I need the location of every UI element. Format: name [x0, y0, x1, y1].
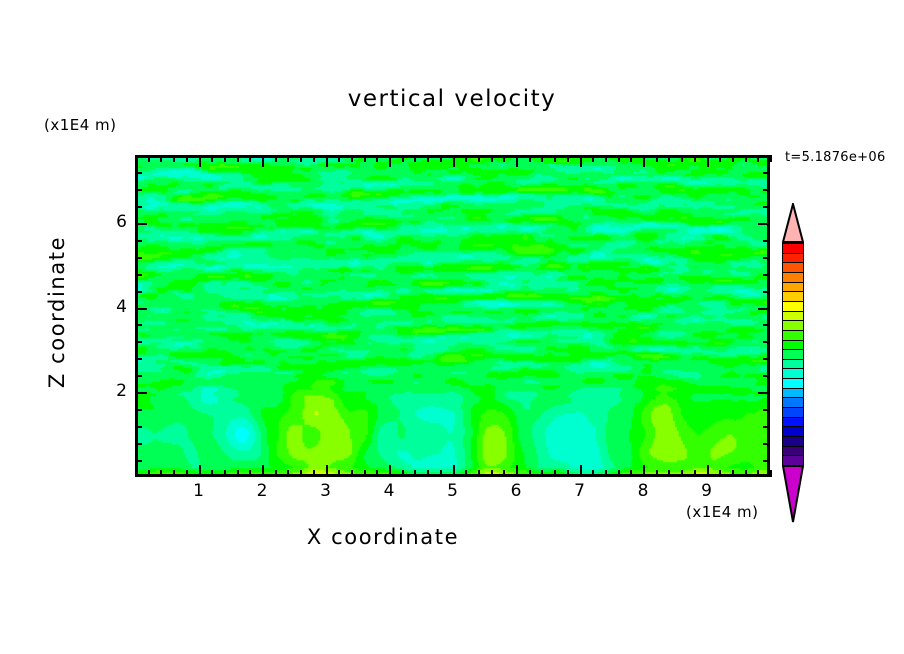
x-axis-minor-tick: [605, 470, 607, 477]
x-axis-minor-tick: [567, 155, 569, 162]
x-axis-minor-tick: [478, 155, 480, 162]
x-axis-minor-tick: [541, 470, 543, 477]
x-axis-major-tick: [326, 465, 328, 477]
x-axis-minor-tick: [186, 470, 188, 477]
x-tick-label: 8: [628, 481, 658, 501]
x-axis-minor-tick: [554, 470, 556, 477]
y-axis-minor-tick: [135, 291, 142, 293]
contour-plot-area: [135, 155, 770, 477]
x-axis-minor-tick: [427, 470, 429, 477]
x-tick-label: 4: [374, 481, 404, 501]
x-axis-major-tick: [389, 465, 391, 477]
x-axis-minor-tick: [287, 155, 289, 162]
y-axis-minor-tick: [763, 443, 770, 445]
x-axis-minor-tick: [414, 470, 416, 477]
x-axis-minor-tick: [414, 155, 416, 162]
x-axis-minor-tick: [300, 470, 302, 477]
y-tick-label: 2: [105, 381, 127, 401]
x-axis-minor-tick: [402, 470, 404, 477]
x-axis-minor-tick: [618, 470, 620, 477]
y-axis-minor-tick: [135, 257, 142, 259]
x-axis-minor-tick: [757, 470, 759, 477]
x-axis-major-tick: [453, 155, 455, 167]
y-axis-minor-tick: [135, 460, 142, 462]
x-axis-minor-tick: [237, 155, 239, 162]
x-axis-minor-tick: [567, 470, 569, 477]
x-axis-minor-tick: [224, 155, 226, 162]
y-axis-minor-tick: [763, 206, 770, 208]
x-axis-minor-tick: [503, 155, 505, 162]
x-axis-minor-tick: [656, 470, 658, 477]
y-axis-major-tick: [758, 308, 770, 310]
x-axis-minor-tick: [148, 155, 150, 162]
x-axis-minor-tick: [275, 470, 277, 477]
x-axis-minor-tick: [719, 155, 721, 162]
x-axis-minor-tick: [465, 155, 467, 162]
x-axis-minor-tick: [160, 155, 162, 162]
x-axis-minor-tick: [338, 155, 340, 162]
x-axis-minor-tick: [173, 155, 175, 162]
x-axis-minor-tick: [376, 470, 378, 477]
x-axis-minor-tick: [376, 155, 378, 162]
x-axis-major-tick: [643, 465, 645, 477]
x-axis-minor-tick: [148, 470, 150, 477]
x-axis-minor-tick: [351, 155, 353, 162]
timestamp-label: t=5.1876e+06: [785, 150, 886, 165]
y-axis-title: Z coordinate: [45, 232, 69, 392]
x-axis-major-tick: [516, 465, 518, 477]
x-axis-minor-tick: [402, 155, 404, 162]
y-axis-minor-tick: [763, 257, 770, 259]
x-axis-minor-tick: [313, 155, 315, 162]
x-axis-major-tick: [580, 155, 582, 167]
x-tick-label: 2: [247, 481, 277, 501]
y-axis-minor-tick: [763, 341, 770, 343]
chart-title: vertical velocity: [0, 86, 904, 112]
y-tick-label: 4: [105, 297, 127, 317]
x-axis-minor-tick: [630, 470, 632, 477]
x-axis-minor-tick: [364, 155, 366, 162]
x-axis-major-tick: [389, 155, 391, 167]
x-axis-minor-tick: [211, 155, 213, 162]
x-axis-major-tick: [516, 155, 518, 167]
y-axis-minor-tick: [135, 375, 142, 377]
x-axis-minor-tick: [757, 155, 759, 162]
x-axis-minor-tick: [681, 470, 683, 477]
y-axis-major-tick: [135, 223, 147, 225]
x-axis-minor-tick: [338, 470, 340, 477]
y-axis-minor-tick: [763, 324, 770, 326]
x-axis-major-tick: [199, 465, 201, 477]
x-tick-label: 1: [184, 481, 214, 501]
x-axis-minor-tick: [186, 155, 188, 162]
y-axis-minor-tick: [763, 172, 770, 174]
x-axis-minor-tick: [491, 155, 493, 162]
colorbar-cap-outline: [782, 465, 804, 523]
x-axis-minor-tick: [732, 470, 734, 477]
x-tick-label: 3: [311, 481, 341, 501]
x-axis-minor-tick: [440, 155, 442, 162]
x-axis-minor-tick: [287, 470, 289, 477]
x-axis-unit-label: (x1E4 m): [686, 503, 759, 521]
y-axis-minor-tick: [135, 426, 142, 428]
y-axis-minor-tick: [763, 426, 770, 428]
y-axis-major-tick: [758, 392, 770, 394]
x-axis-minor-tick: [694, 470, 696, 477]
x-axis-minor-tick: [160, 470, 162, 477]
x-axis-minor-tick: [541, 155, 543, 162]
colorbar: 181260−6−12−18: [778, 203, 808, 523]
x-axis-minor-tick: [630, 155, 632, 162]
y-axis-minor-tick: [763, 409, 770, 411]
x-axis-minor-tick: [618, 155, 620, 162]
y-axis-unit-label: (x1E4 m): [44, 116, 117, 134]
x-axis-major-tick: [199, 155, 201, 167]
x-axis-minor-tick: [770, 155, 772, 162]
y-axis-major-tick: [758, 223, 770, 225]
x-axis-major-tick: [262, 465, 264, 477]
x-axis-minor-tick: [656, 155, 658, 162]
x-axis-major-tick: [453, 465, 455, 477]
x-axis-minor-tick: [440, 470, 442, 477]
x-axis-major-tick: [262, 155, 264, 167]
x-axis-minor-tick: [237, 470, 239, 477]
x-axis-minor-tick: [605, 155, 607, 162]
x-axis-major-tick: [580, 465, 582, 477]
x-axis-minor-tick: [745, 155, 747, 162]
y-axis-minor-tick: [135, 443, 142, 445]
x-tick-label: 6: [501, 481, 531, 501]
y-axis-minor-tick: [135, 206, 142, 208]
x-axis-minor-tick: [592, 470, 594, 477]
x-axis-minor-tick: [249, 470, 251, 477]
y-axis-major-tick: [135, 308, 147, 310]
y-axis-minor-tick: [135, 189, 142, 191]
x-axis-title: X coordinate: [0, 525, 766, 549]
x-axis-major-tick: [643, 155, 645, 167]
x-axis-minor-tick: [478, 470, 480, 477]
x-axis-minor-tick: [668, 155, 670, 162]
y-axis-minor-tick: [135, 274, 142, 276]
x-axis-minor-tick: [732, 155, 734, 162]
y-axis-minor-tick: [763, 274, 770, 276]
x-axis-minor-tick: [300, 155, 302, 162]
x-axis-minor-tick: [770, 470, 772, 477]
y-axis-minor-tick: [135, 358, 142, 360]
x-axis-minor-tick: [224, 470, 226, 477]
x-axis-minor-tick: [745, 470, 747, 477]
y-axis-minor-tick: [763, 291, 770, 293]
x-tick-label: 5: [438, 481, 468, 501]
figure-canvas: vertical velocity (x1E4 m) t=5.1876e+06 …: [0, 0, 904, 654]
y-axis-minor-tick: [135, 324, 142, 326]
x-axis-minor-tick: [427, 155, 429, 162]
y-axis-minor-tick: [763, 358, 770, 360]
x-axis-minor-tick: [351, 470, 353, 477]
x-axis-minor-tick: [491, 470, 493, 477]
x-tick-label: 9: [692, 481, 722, 501]
vertical-velocity-field: [138, 158, 767, 474]
x-axis-minor-tick: [529, 155, 531, 162]
y-axis-minor-tick: [135, 341, 142, 343]
x-axis-minor-tick: [503, 470, 505, 477]
x-axis-minor-tick: [554, 155, 556, 162]
x-axis-minor-tick: [681, 155, 683, 162]
x-axis-minor-tick: [719, 470, 721, 477]
x-axis-minor-tick: [529, 470, 531, 477]
x-axis-minor-tick: [465, 470, 467, 477]
x-axis-minor-tick: [592, 155, 594, 162]
x-axis-minor-tick: [249, 155, 251, 162]
y-axis-minor-tick: [763, 240, 770, 242]
y-axis-major-tick: [135, 392, 147, 394]
y-axis-minor-tick: [135, 240, 142, 242]
y-axis-minor-tick: [135, 409, 142, 411]
x-axis-minor-tick: [275, 155, 277, 162]
x-axis-minor-tick: [668, 470, 670, 477]
colorbar-cap-outline: [782, 203, 804, 243]
x-axis-major-tick: [326, 155, 328, 167]
x-axis-minor-tick: [211, 470, 213, 477]
x-tick-label: 7: [565, 481, 595, 501]
x-axis-minor-tick: [364, 470, 366, 477]
x-axis-minor-tick: [313, 470, 315, 477]
x-axis-major-tick: [707, 465, 709, 477]
y-axis-minor-tick: [763, 189, 770, 191]
x-axis-major-tick: [707, 155, 709, 167]
y-axis-minor-tick: [763, 460, 770, 462]
y-axis-minor-tick: [763, 375, 770, 377]
y-axis-minor-tick: [135, 172, 142, 174]
x-axis-minor-tick: [694, 155, 696, 162]
x-axis-minor-tick: [173, 470, 175, 477]
y-tick-label: 6: [105, 212, 127, 232]
